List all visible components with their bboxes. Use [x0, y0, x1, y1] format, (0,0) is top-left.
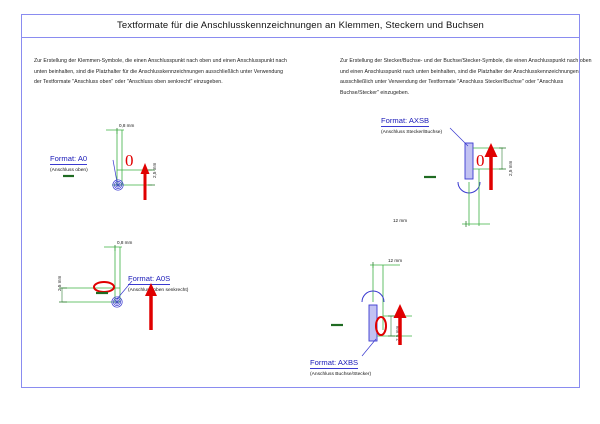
- dim-horizontal-a0: 0,8 mm: [119, 123, 134, 128]
- dim-horizontal-a0s: 0,8 mm: [117, 240, 132, 245]
- callout-axbs: Format: AXBS (Anschluss Buchse/Stecker): [310, 352, 371, 377]
- description-text-left: Zur Erstellung der Klemmen-Symbole, die …: [34, 56, 292, 88]
- dim-vertical-axsb: 2,5 mm: [508, 161, 513, 176]
- format-label-a0s: Format: A0S: [128, 274, 170, 285]
- dim-vertical-axbs: 2,5 mm: [395, 326, 400, 341]
- dim-horizontal-axbs: 12 mm: [388, 258, 402, 263]
- format-description-a0: (Anschluss oben): [50, 168, 88, 173]
- callout-a0s: Format: A0S (Anschluss oben senkrecht): [128, 268, 188, 293]
- format-description-axbs: (Anschluss Buchse/Stecker): [310, 372, 371, 377]
- format-label-axsb: Format: AXSB: [381, 116, 429, 127]
- format-label-a0: Format: A0: [50, 154, 87, 165]
- format-description-a0s: (Anschluss oben senkrecht): [128, 288, 188, 293]
- title-bar: Textformate für die Anschlusskennzeichnu…: [21, 14, 580, 38]
- page-title: Textformate für die Anschlusskennzeichnu…: [117, 20, 484, 31]
- drawing-page: Textformate für die Anschlusskennzeichnu…: [0, 0, 600, 424]
- dim-vertical-a0s: 2,5 mm: [57, 276, 62, 291]
- dim-horizontal-axsb: 12 mm: [393, 218, 407, 223]
- dim-vertical-a0: 2,5 mm: [152, 163, 157, 178]
- format-description-axsb: (Anschluss Stecker/Buchse): [381, 130, 442, 135]
- callout-axsb: Format: AXSB (Anschluss Stecker/Buchse): [381, 110, 442, 135]
- format-label-axbs: Format: AXBS: [310, 358, 358, 369]
- callout-a0: Format: A0 (Anschluss oben): [50, 148, 88, 173]
- description-text-right: Zur Erstellung der Stecker/Buchse- und d…: [340, 56, 592, 99]
